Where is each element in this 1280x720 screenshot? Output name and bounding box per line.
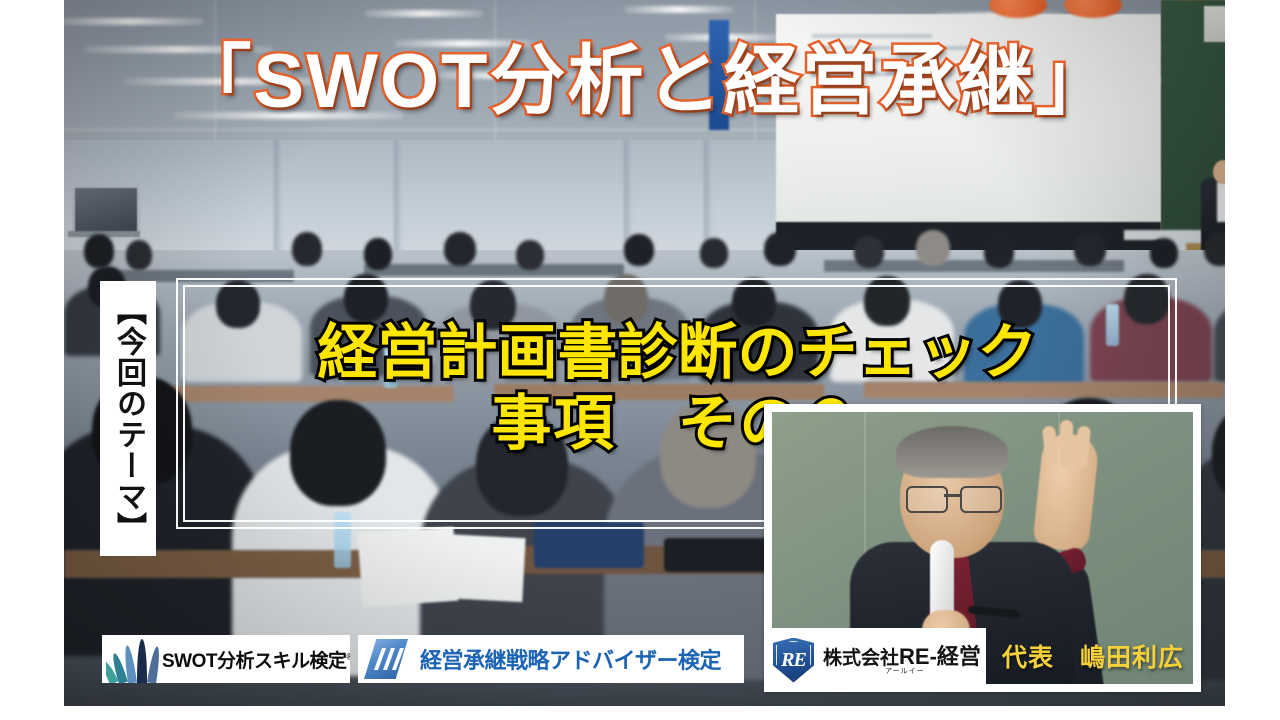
company-prefix: 株式会社 — [823, 648, 899, 669]
registered-trademark-mark: ® — [347, 651, 351, 661]
company-name-ruby: アールイー — [885, 668, 981, 675]
succession-certification-label: 経営承継戦略アドバイザー検定 — [420, 643, 721, 675]
theme-label-text: 【今回のテーマ】 — [113, 295, 143, 543]
page-title: 「SWOT分析と経営承継」 — [64, 44, 1225, 120]
diamond-icon — [364, 639, 412, 679]
shield-icon: RE — [773, 638, 814, 683]
shield-initials: RE — [781, 650, 806, 670]
theme-label-box: 【今回のテーマ】 — [100, 281, 156, 556]
swot-certification-label: SWOT分析スキル検定® — [162, 646, 350, 673]
speaker-glasses-right — [960, 486, 1002, 513]
speaker-glasses-bridge — [944, 494, 962, 497]
succession-certification-logo: 経営承継戦略アドバイザー検定 — [358, 635, 744, 683]
speaker-hair — [896, 426, 1008, 478]
company-name-block: 株式会社RE-経営 アールイー — [823, 645, 981, 675]
swot-certification-logo: SWOT分析スキル検定® — [102, 635, 350, 683]
swot-fan-icon — [106, 635, 162, 683]
company-name: RE-経営 — [899, 644, 981, 669]
company-name-line: 株式会社RE-経営 — [823, 645, 981, 669]
video-thumbnail-slide: 「SWOT分析と経営承継」 【今回のテーマ】 経営計画書診断のチェック 事項 そ… — [0, 0, 1280, 720]
representative-name: 代表 嶋田利広 — [1002, 638, 1184, 674]
company-logo-block: RE 株式会社RE-経営 アールイー — [764, 628, 986, 692]
theme-headline-line1: 経営計画書診断のチェック — [180, 318, 1175, 389]
speaker-glasses-left — [906, 486, 948, 513]
